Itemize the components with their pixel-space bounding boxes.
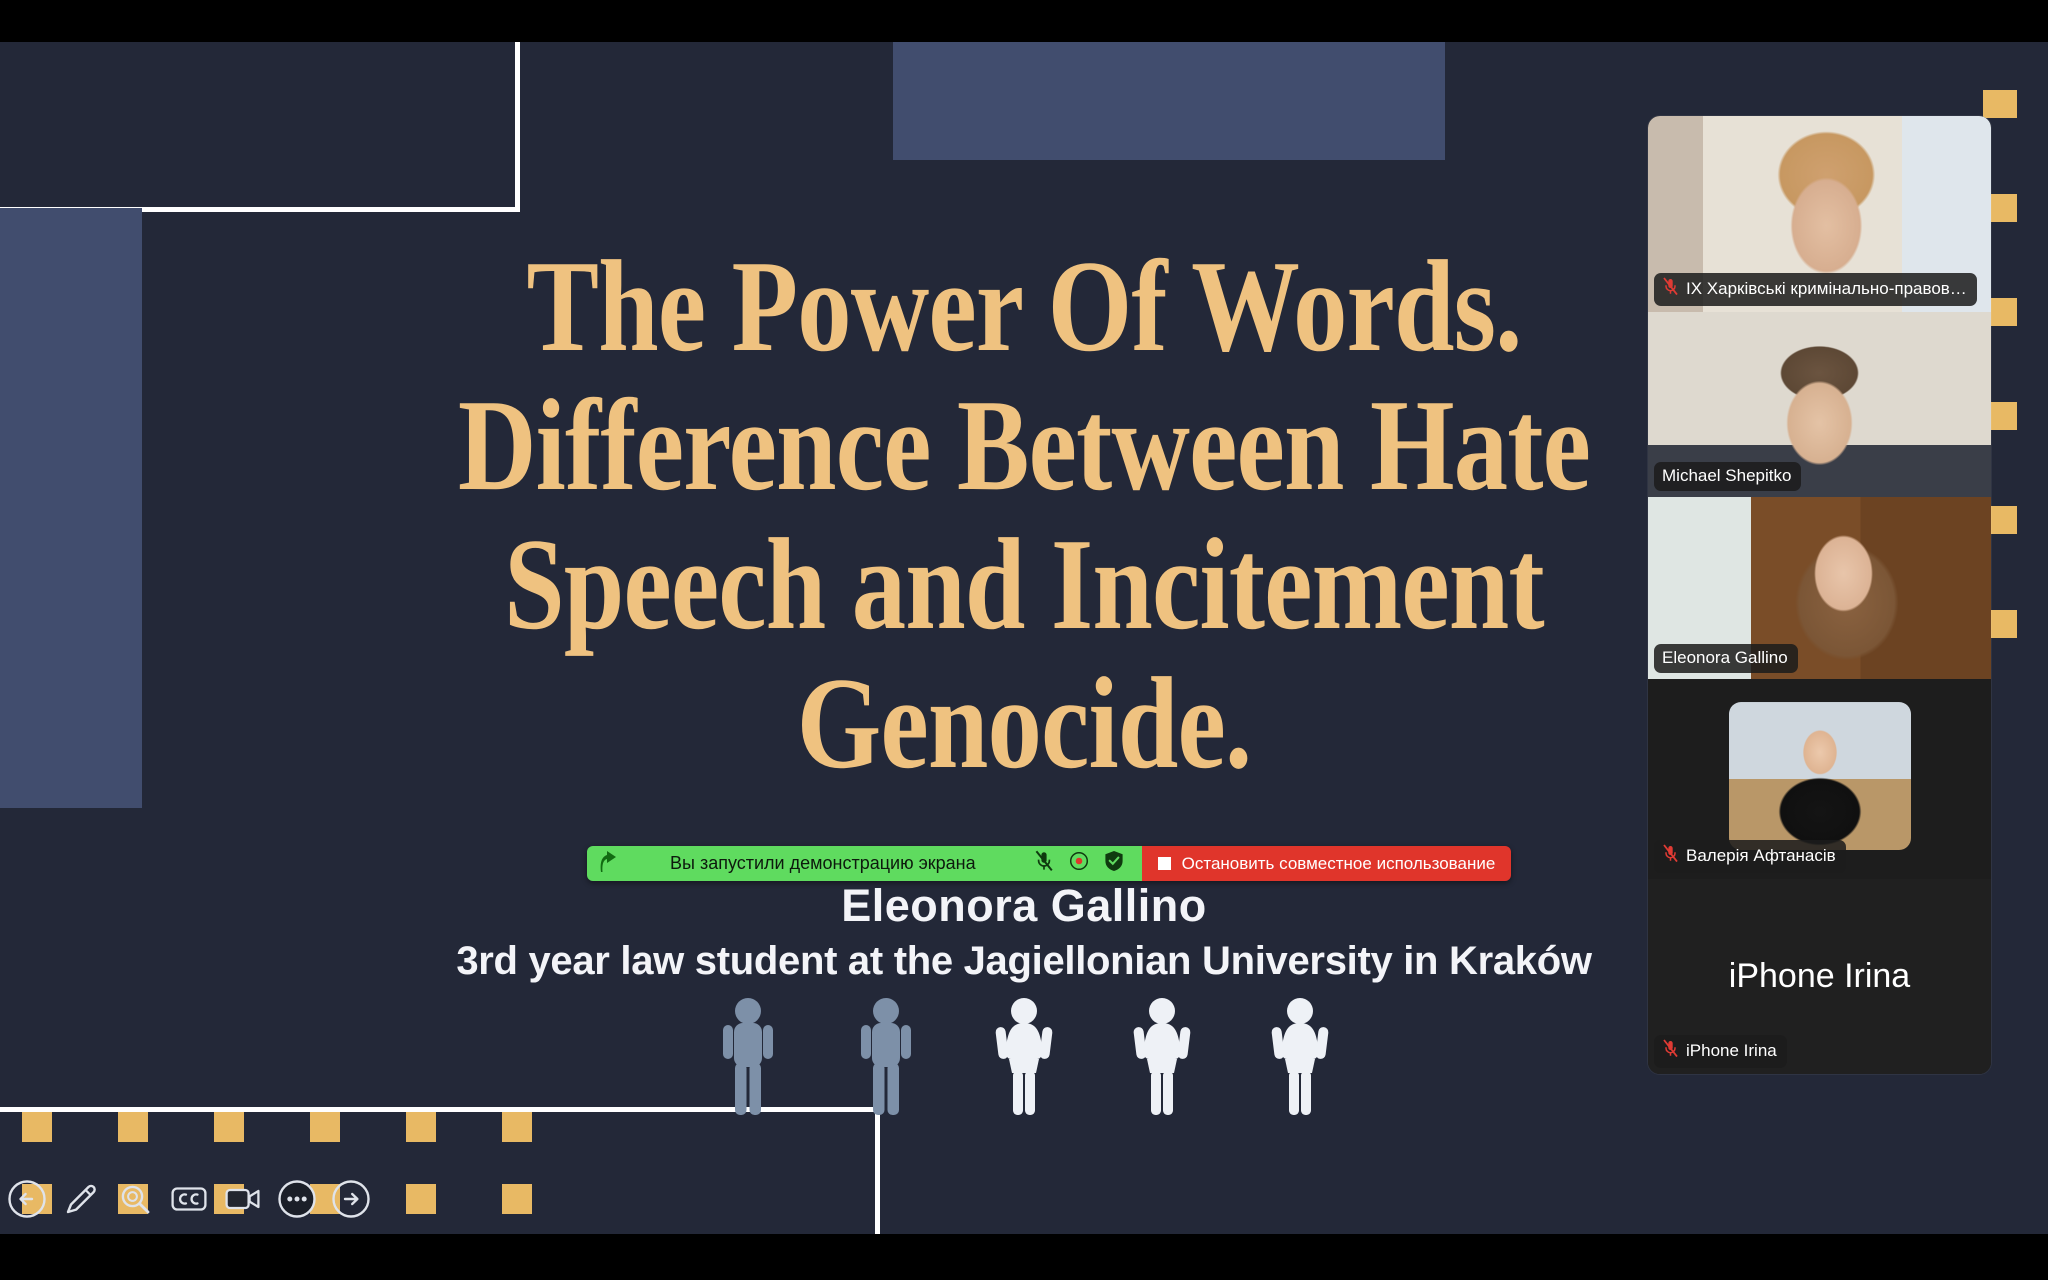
pictogram-male <box>712 997 784 1125</box>
participant-name: Валерія Афтанасів <box>1686 846 1836 866</box>
decor-gold-square <box>1983 90 2017 118</box>
back-button[interactable] <box>6 1178 48 1220</box>
captions-button[interactable] <box>168 1178 210 1220</box>
decor-gold-square-row-top <box>22 1112 532 1142</box>
stop-share-label: Остановить совместное использование <box>1182 854 1496 874</box>
participant-name-tag: Michael Shepitko <box>1654 462 1801 491</box>
decor-gold-square <box>310 1112 340 1142</box>
participant-name: iPhone Irina <box>1686 1041 1777 1061</box>
avatar <box>1729 702 1911 850</box>
participant-name-tag: Eleonora Gallino <box>1654 644 1798 673</box>
decor-gold-square <box>214 1112 244 1142</box>
participant-tile[interactable]: iPhone Irina iPhone Irina <box>1648 879 1991 1074</box>
stop-share-button[interactable]: Остановить совместное использование <box>1142 846 1512 881</box>
security-shield-icon[interactable] <box>1104 850 1124 877</box>
participant-filmstrip[interactable]: ІХ Харківські кримінально-правов… Michae… <box>1648 116 1991 1074</box>
share-arrow-icon <box>597 850 618 878</box>
annotate-button[interactable] <box>60 1178 102 1220</box>
pictogram-male <box>850 997 922 1125</box>
participant-tile[interactable]: Michael Shepitko <box>1648 312 1991 497</box>
forward-button[interactable] <box>330 1178 372 1220</box>
microphone-muted-icon <box>1662 844 1679 868</box>
decor-gold-square <box>502 1112 532 1142</box>
microphone-muted-icon <box>1662 1039 1679 1063</box>
decor-frame-top-left <box>0 42 520 212</box>
participant-tile[interactable]: Eleonora Gallino <box>1648 497 1991 679</box>
share-banner-left: Вы запустили демонстрацию экрана <box>587 846 1142 881</box>
participant-name: Michael Shepitko <box>1662 466 1791 486</box>
participant-name-tag: Валерія Афтанасів <box>1654 840 1846 873</box>
share-banner-message: Вы запустили демонстрацию экрана <box>632 853 1020 874</box>
decor-gold-square <box>406 1112 436 1142</box>
participant-tile[interactable]: Валерія Афтанасів <box>1648 679 1991 879</box>
stop-square-icon <box>1158 857 1171 870</box>
decor-block-top-center <box>893 42 1445 160</box>
slide-title: The Power Of Words. Difference Between H… <box>174 237 1874 793</box>
decor-gold-square <box>22 1112 52 1142</box>
pictogram-female <box>988 997 1060 1125</box>
screen-share-banner: Вы запустили демонстрацию экрана <box>587 846 1511 881</box>
participant-name: ІХ Харківські кримінально-правов… <box>1686 279 1967 299</box>
participant-name: Eleonora Gallino <box>1662 648 1788 668</box>
video-button[interactable] <box>222 1178 264 1220</box>
decor-gold-square <box>118 1112 148 1142</box>
annotation-toolbar <box>6 1178 372 1220</box>
microphone-muted-icon[interactable] <box>1034 850 1054 877</box>
zoom-button[interactable] <box>114 1178 156 1220</box>
decor-gold-square <box>406 1184 436 1214</box>
participant-name-tag: ІХ Харківські кримінально-правов… <box>1654 273 1977 306</box>
decor-gold-square <box>502 1184 532 1214</box>
zoom-screen-share-window: The Power Of Words. Difference Between H… <box>0 0 2048 1280</box>
microphone-muted-icon <box>1662 277 1679 301</box>
participant-tile[interactable]: ІХ Харківські кримінально-правов… <box>1648 116 1991 312</box>
record-icon[interactable] <box>1069 851 1089 876</box>
share-banner-controls <box>1034 850 1130 877</box>
decor-block-left <box>0 208 142 808</box>
pictogram-female <box>1126 997 1198 1125</box>
participant-name-tag: iPhone Irina <box>1654 1035 1787 1068</box>
pictogram-female <box>1264 997 1336 1125</box>
more-button[interactable] <box>276 1178 318 1220</box>
